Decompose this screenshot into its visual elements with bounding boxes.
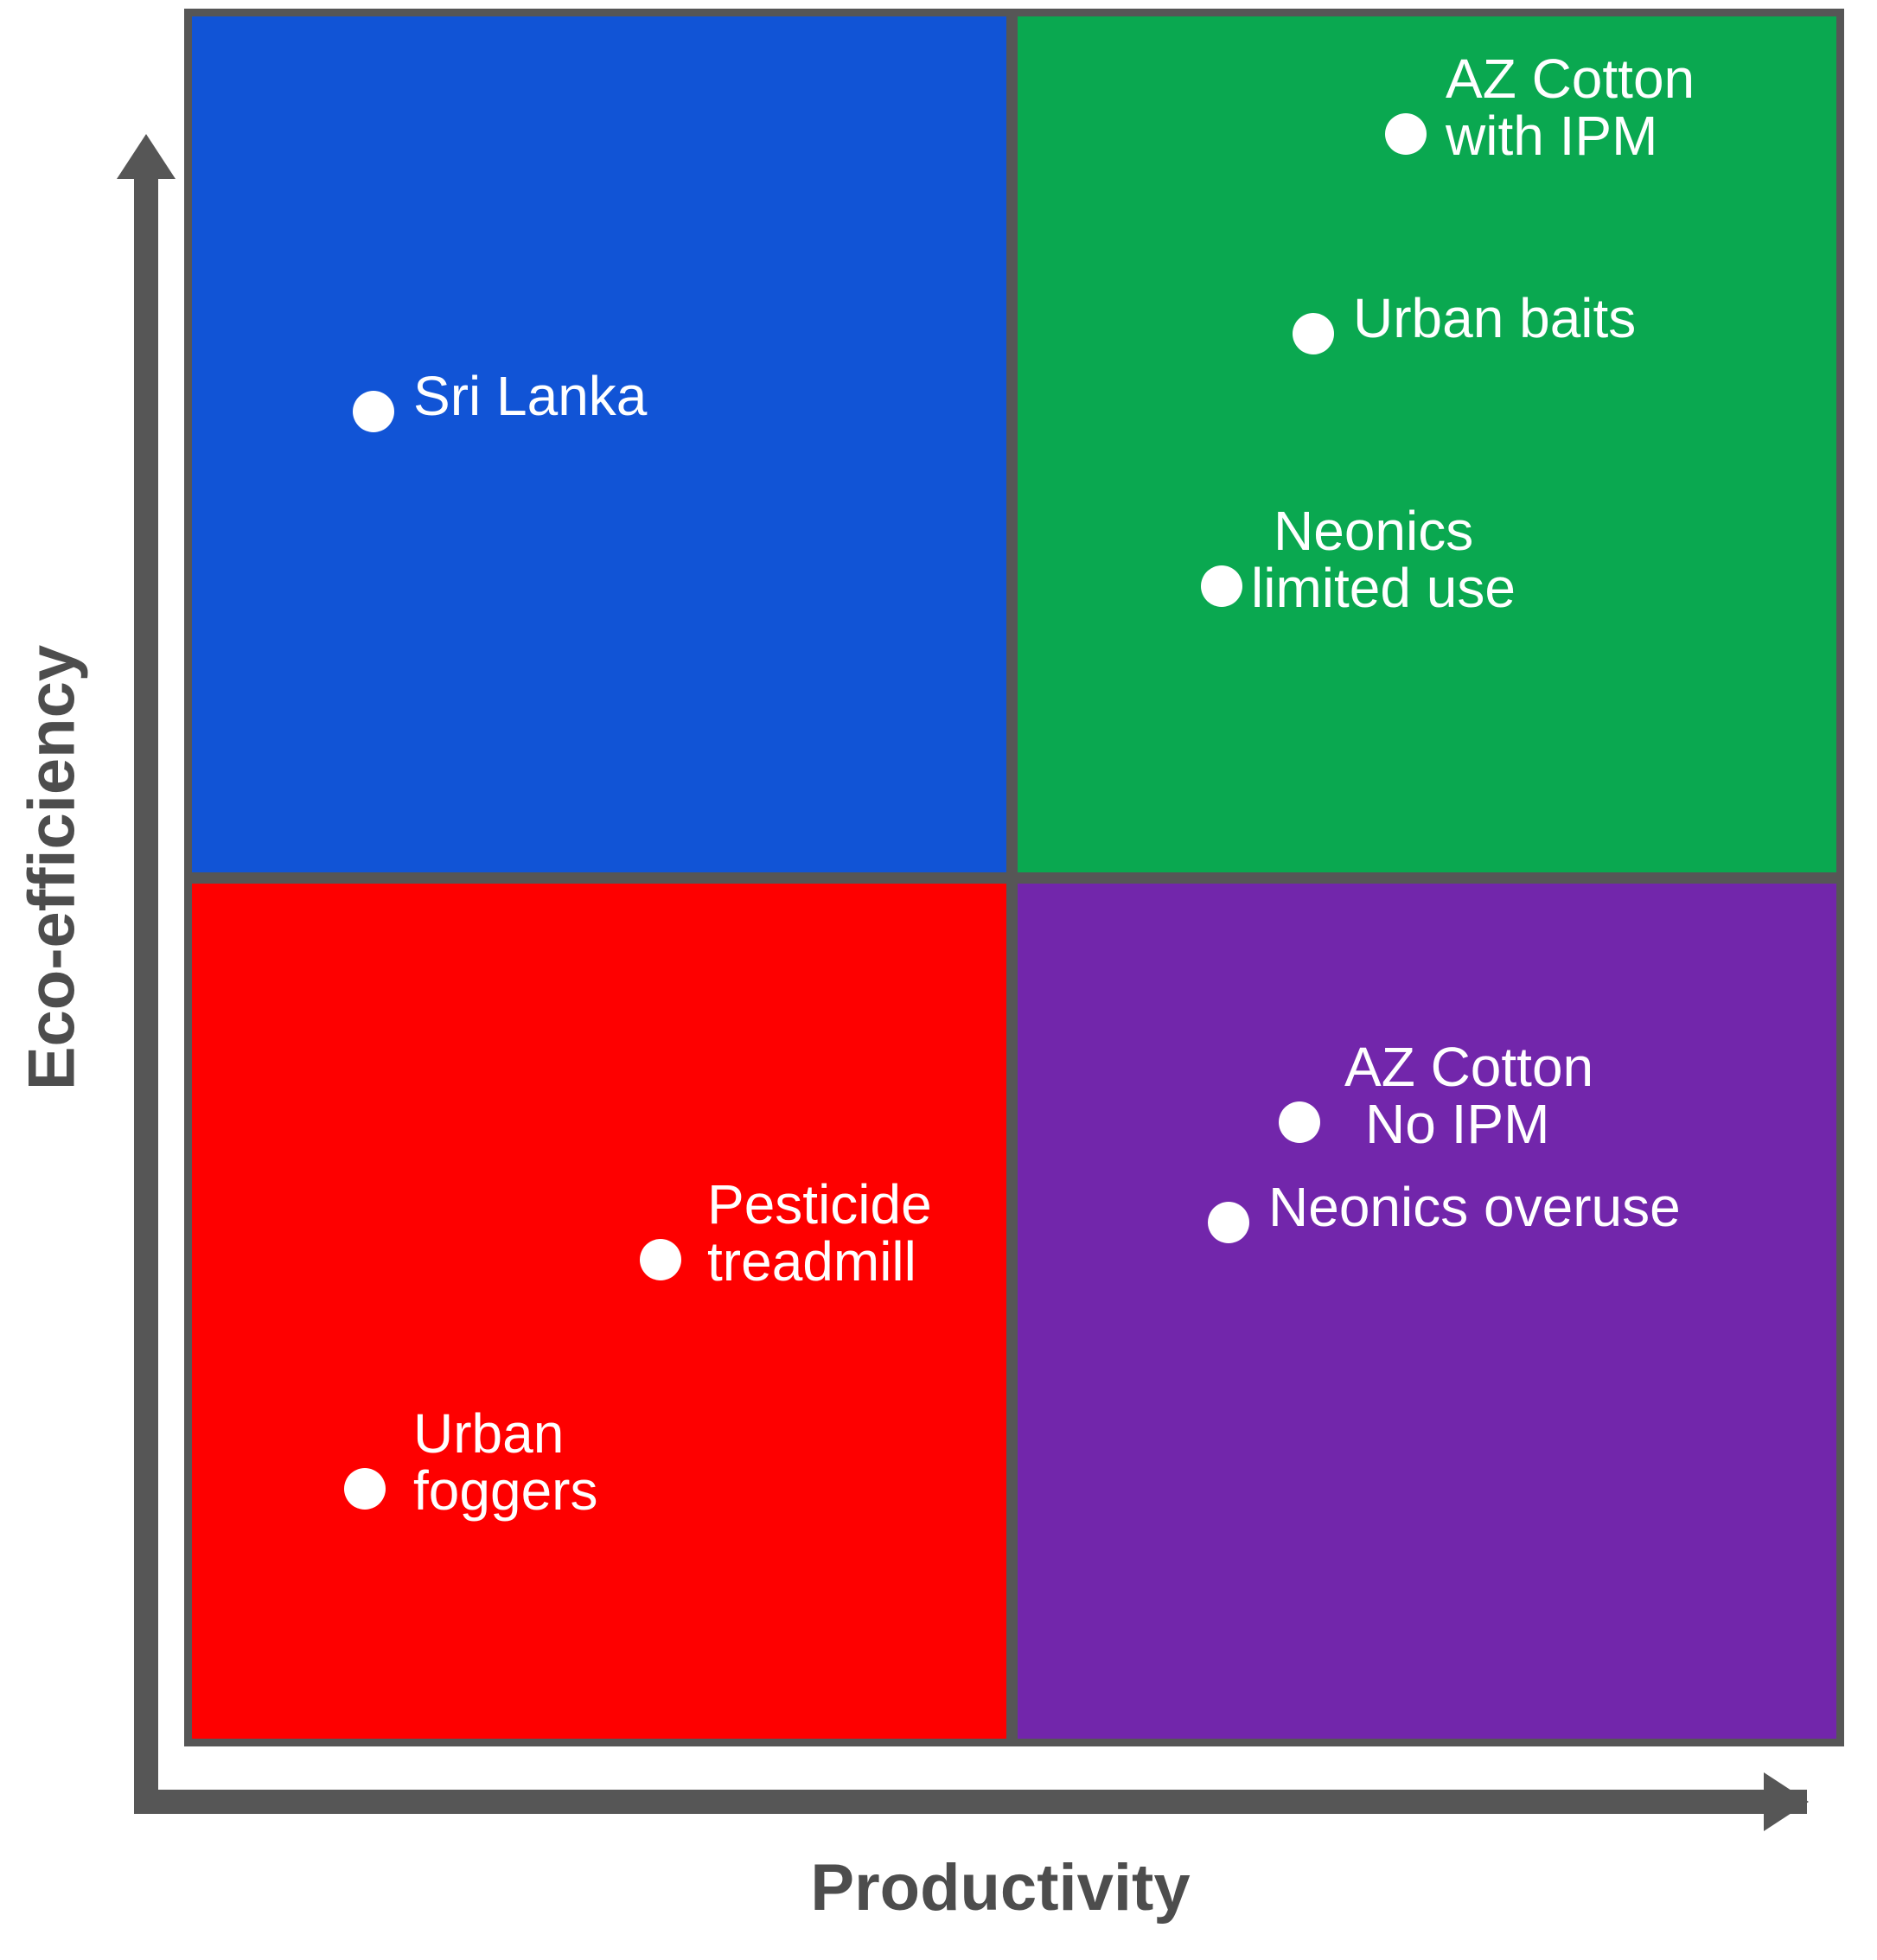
point-marker-icon [344, 1468, 386, 1510]
quadrant-chart: Eco-efficiency Productivity Sri Lanka AZ… [0, 0, 1877, 1960]
point-marker-icon [1279, 1101, 1320, 1143]
data-point-label-line2: foggers [413, 1463, 597, 1519]
data-point-label-line1: AZ Cotton [1446, 51, 1695, 107]
x-axis-line [134, 1790, 1807, 1814]
y-axis-line [134, 171, 158, 1814]
point-marker-icon [353, 391, 394, 432]
data-point-label-line1: Urban [413, 1406, 564, 1462]
point-marker-icon [1385, 113, 1427, 155]
quadrant-bottom-right[interactable]: AZ Cotton No IPM Neonics overuse [1010, 876, 1844, 1746]
data-point-label-line1: AZ Cotton [1344, 1039, 1593, 1095]
quadrant-top-left[interactable]: Sri Lanka [184, 9, 1014, 880]
data-point-label: Urban baits [1353, 290, 1636, 347]
point-marker-icon [1208, 1202, 1249, 1243]
x-axis-title: Productivity [654, 1850, 1346, 1925]
quadrant-matrix: Sri Lanka AZ Cotton with IPM Urban baits… [184, 9, 1844, 1746]
data-point-label-line2: No IPM [1365, 1096, 1549, 1152]
data-point-label-line2: limited use [1251, 560, 1516, 616]
quadrant-top-right[interactable]: AZ Cotton with IPM Urban baits Neonics l… [1010, 9, 1844, 880]
y-axis-title: Eco-efficiency [15, 522, 90, 1214]
point-marker-icon [640, 1239, 681, 1280]
y-axis-arrow-icon [117, 134, 176, 179]
data-point-label-line2: treadmill [707, 1234, 916, 1290]
point-marker-icon [1293, 313, 1334, 354]
data-point-label-line2: with IPM [1446, 108, 1657, 164]
x-axis-arrow-icon [1764, 1772, 1809, 1831]
point-marker-icon [1201, 565, 1242, 607]
data-point-label-line1: Pesticide [707, 1177, 932, 1233]
data-point-label-line1: Neonics [1274, 503, 1473, 559]
data-point-label: Sri Lanka [413, 368, 647, 425]
quadrant-bottom-left[interactable]: Pesticide treadmill Urban foggers [184, 876, 1014, 1746]
data-point-label: Neonics overuse [1268, 1179, 1681, 1235]
